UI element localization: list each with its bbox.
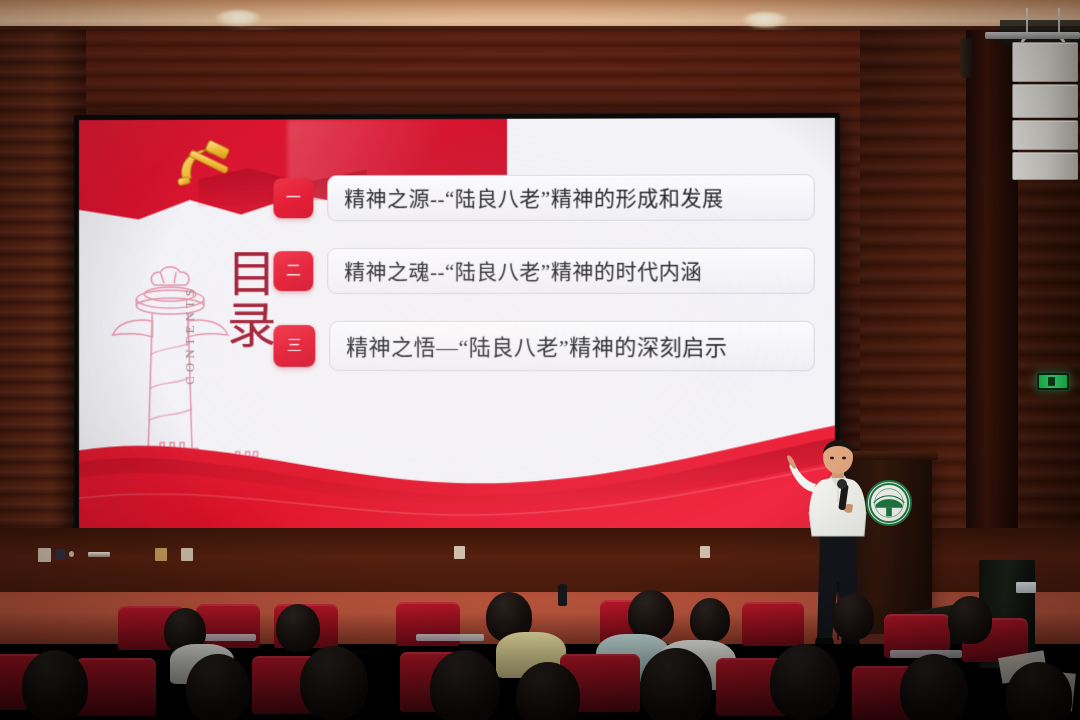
projection-screen: CONTENTS 目录 一 精神之源--“陆良八老”精神的形成和发展 二 精神之… (74, 113, 840, 543)
toc-item[interactable]: 二 精神之魂--“陆良八老”精神的时代内涵 (273, 248, 814, 294)
wall-plate (38, 548, 51, 562)
audience-head (276, 604, 320, 652)
red-ribbon-wave (79, 407, 835, 538)
wall-vent (88, 552, 110, 557)
line-array-speaker (1012, 38, 1078, 183)
toc-number-badge: 二 (273, 251, 313, 291)
toc-number-badge: 三 (273, 325, 315, 367)
toc-number-badge: 一 (273, 178, 313, 218)
contents-label-cn: 目录 (218, 247, 277, 351)
audience-head (300, 646, 368, 720)
audience-head (900, 654, 968, 720)
toc-item-label: 精神之魂--“陆良八老”精神的时代内涵 (344, 256, 702, 286)
ceiling-pipe (960, 38, 974, 78)
audience-head (186, 654, 250, 720)
ceiling-downlight (742, 12, 788, 28)
lecture-hall-scene: CONTENTS 目录 一 精神之源--“陆良八老”精神的形成和发展 二 精神之… (0, 0, 1080, 720)
audience-head (1006, 662, 1072, 720)
wall-plate (155, 548, 167, 561)
audience-head (430, 650, 500, 720)
audience-head (640, 648, 712, 720)
seat-desk-tablet (416, 634, 484, 641)
cpc-party-emblem-icon (166, 140, 251, 202)
audience-head (770, 644, 840, 720)
toc-item-label: 精神之悟—“陆良八老”精神的深刻启示 (346, 330, 727, 362)
toc-text-box[interactable]: 精神之悟—“陆良八老”精神的深刻启示 (329, 321, 814, 371)
toc-item[interactable]: 三 精神之悟—“陆良八老”精神的深刻启示 (273, 321, 814, 371)
auditorium-seat (742, 602, 804, 646)
thermos-bottle (558, 584, 567, 606)
audience-head (948, 596, 992, 644)
right-wall-column (966, 30, 1018, 590)
audience-area (0, 588, 1080, 720)
toc-item-label: 精神之源--“陆良八老”精神的形成和发展 (344, 182, 723, 213)
audience-head (628, 590, 674, 640)
toc-text-box[interactable]: 精神之魂--“陆良八老”精神的时代内涵 (327, 248, 814, 294)
table-of-contents: 一 精神之源--“陆良八老”精神的形成和发展 二 精神之魂--“陆良八老”精神的… (273, 174, 814, 398)
wall-plate (700, 546, 710, 558)
wall-outlet (56, 549, 65, 560)
presentation-slide: CONTENTS 目录 一 精神之源--“陆良八老”精神的形成和发展 二 精神之… (79, 118, 835, 538)
wall-plate (181, 548, 193, 561)
toc-text-box[interactable]: 精神之源--“陆良八老”精神的形成和发展 (327, 174, 814, 221)
auditorium-seat (76, 658, 156, 716)
toc-item[interactable]: 一 精神之源--“陆良八老”精神的形成和发展 (273, 174, 814, 221)
audience-head (690, 598, 730, 642)
ceiling-downlight (215, 10, 261, 26)
wall-indicator (69, 551, 74, 557)
audience-head (832, 594, 874, 640)
contents-label-en: CONTENTS (182, 285, 198, 385)
wall-plate (454, 546, 465, 559)
emergency-exit-sign (1036, 372, 1070, 391)
audience-head (22, 650, 88, 720)
